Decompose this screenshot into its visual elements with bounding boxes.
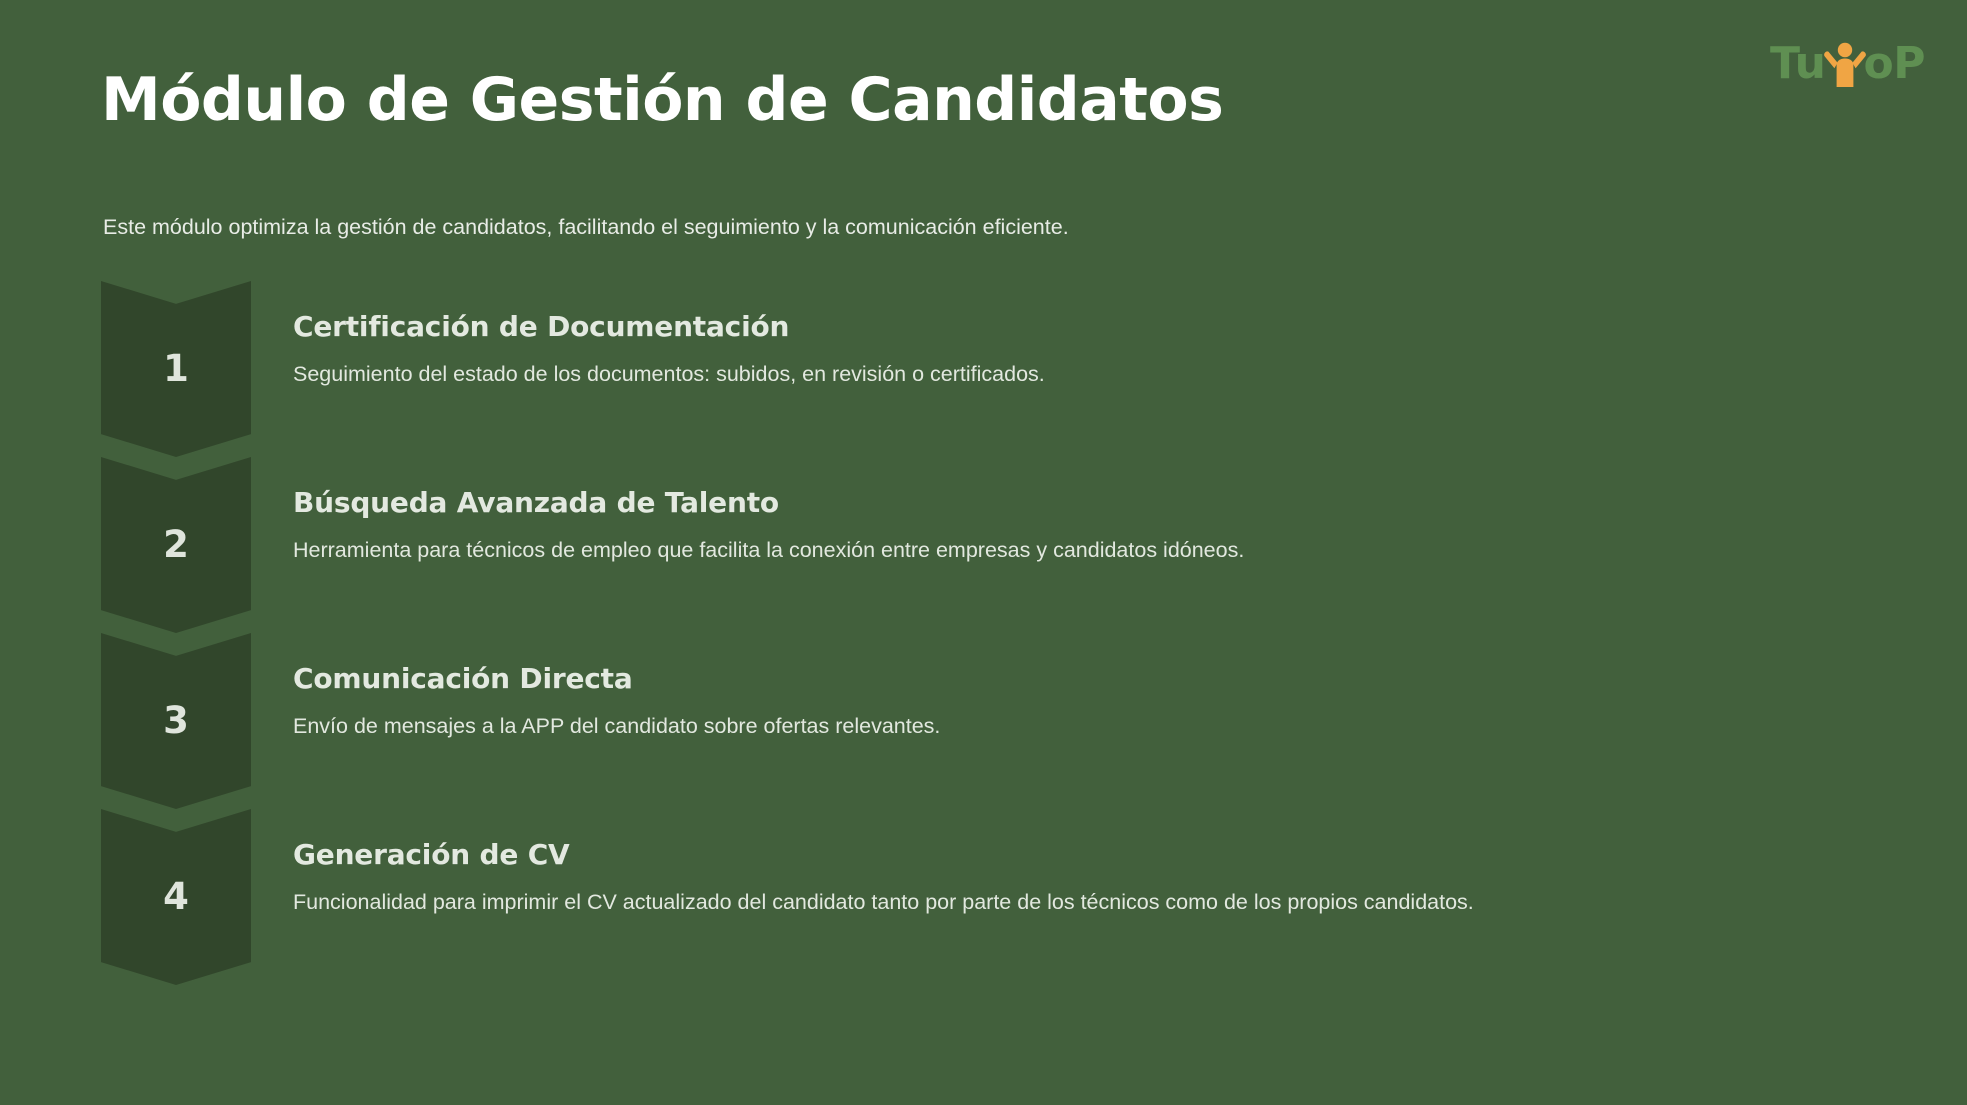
step-title: Comunicación Directa [293, 663, 1891, 695]
steps-list: 1 Certificación de Documentación Seguimi… [101, 281, 1891, 985]
list-item: 4 Generación de CV Funcionalidad para im… [101, 809, 1891, 985]
step-title: Generación de CV [293, 839, 1891, 871]
step-description: Funcionalidad para imprimir el CV actual… [293, 888, 1891, 917]
step-content: Búsqueda Avanzada de Talento Herramienta… [251, 457, 1891, 565]
brand-logo-prefix: Tu [1770, 42, 1826, 86]
step-content: Generación de CV Funcionalidad para impr… [251, 809, 1891, 917]
page-subtitle: Este módulo optimiza la gestión de candi… [103, 212, 1069, 242]
list-item: 2 Búsqueda Avanzada de Talento Herramien… [101, 457, 1891, 633]
brand-logo-suffix: oP [1864, 42, 1925, 86]
step-number: 1 [163, 350, 189, 389]
slide-root: Tu oP Módulo de Gestión de Candidatos Es… [0, 0, 1967, 1105]
step-content: Certificación de Documentación Seguimien… [251, 281, 1891, 389]
step-badge-3: 3 [101, 633, 251, 809]
step-number: 3 [163, 702, 189, 741]
list-item: 1 Certificación de Documentación Seguimi… [101, 281, 1891, 457]
step-description: Seguimiento del estado de los documentos… [293, 360, 1891, 389]
step-number: 2 [163, 526, 189, 565]
person-raised-arms-icon [1824, 39, 1866, 89]
page-title: Módulo de Gestión de Candidatos [101, 68, 1223, 133]
step-badge-4: 4 [101, 809, 251, 985]
step-title: Certificación de Documentación [293, 311, 1891, 343]
step-badge-2: 2 [101, 457, 251, 633]
brand-logo[interactable]: Tu oP [1770, 38, 1925, 90]
list-item: 3 Comunicación Directa Envío de mensajes… [101, 633, 1891, 809]
step-description: Herramienta para técnicos de empleo que … [293, 536, 1891, 565]
step-badge-1: 1 [101, 281, 251, 457]
step-number: 4 [163, 878, 189, 917]
step-content: Comunicación Directa Envío de mensajes a… [251, 633, 1891, 741]
step-description: Envío de mensajes a la APP del candidato… [293, 712, 1891, 741]
step-title: Búsqueda Avanzada de Talento [293, 487, 1891, 519]
